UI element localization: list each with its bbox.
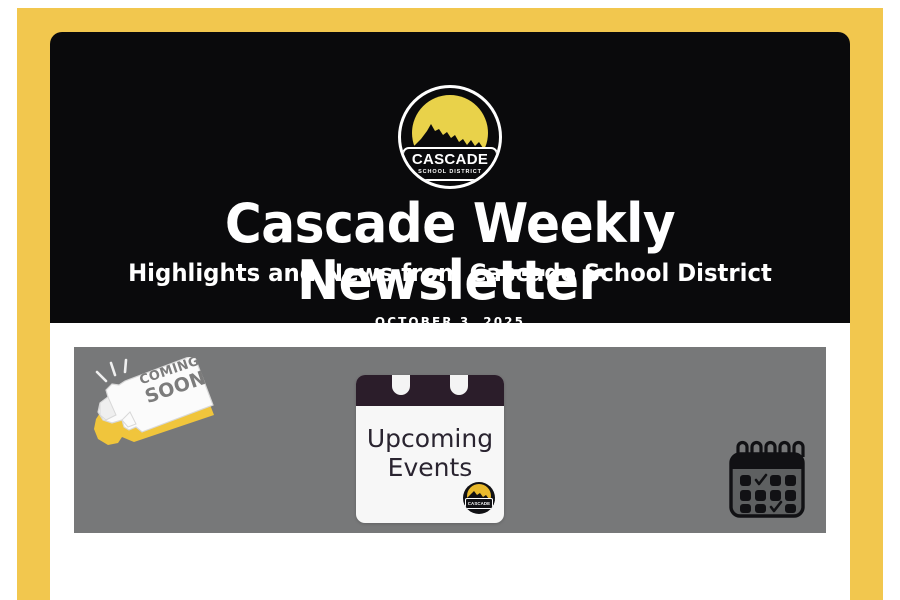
upcoming-events-line2: Events — [356, 453, 504, 482]
newsletter-header-card: CASCADE SCHOOL DISTRICT Cascade Weekly N… — [50, 32, 850, 323]
cascade-logo: CASCADE SCHOOL DISTRICT — [398, 85, 502, 189]
logo-circle: CASCADE SCHOOL DISTRICT — [398, 85, 502, 189]
cascade-logo-mini: CASCADE — [463, 482, 495, 514]
upcoming-events-card: Upcoming Events CASCADE — [356, 375, 504, 523]
logo-wordmark-sub: SCHOOL DISTRICT — [418, 170, 482, 176]
upcoming-events-heading: Upcoming Events — [356, 424, 504, 483]
newsletter-email-page: CASCADE SCHOOL DISTRICT Cascade Weekly N… — [0, 0, 900, 600]
coming-soon-graphic: COMING SOON — [82, 357, 222, 455]
calendar-card-header — [356, 375, 504, 406]
page-title: Cascade Weekly Newsletter — [78, 196, 822, 309]
logo-mini-wordmark: CASCADE — [465, 498, 493, 509]
issue-date: OCTOBER 3, 2025 — [50, 315, 850, 323]
calendar-ring-left-icon — [392, 375, 410, 395]
calendar-ring-right-icon — [450, 375, 468, 395]
logo-wordmark-main: CASCADE — [412, 152, 488, 167]
page-subtitle: Highlights and News from Cascade School … — [70, 259, 830, 288]
calendar-check-icon — [725, 437, 809, 519]
logo-wordmark-banner: CASCADE SCHOOL DISTRICT — [402, 147, 498, 181]
logo-mini-wordmark-main: CASCADE — [468, 501, 490, 506]
upcoming-events-line1: Upcoming — [356, 424, 504, 453]
logo-mini-circle: CASCADE — [463, 482, 495, 514]
